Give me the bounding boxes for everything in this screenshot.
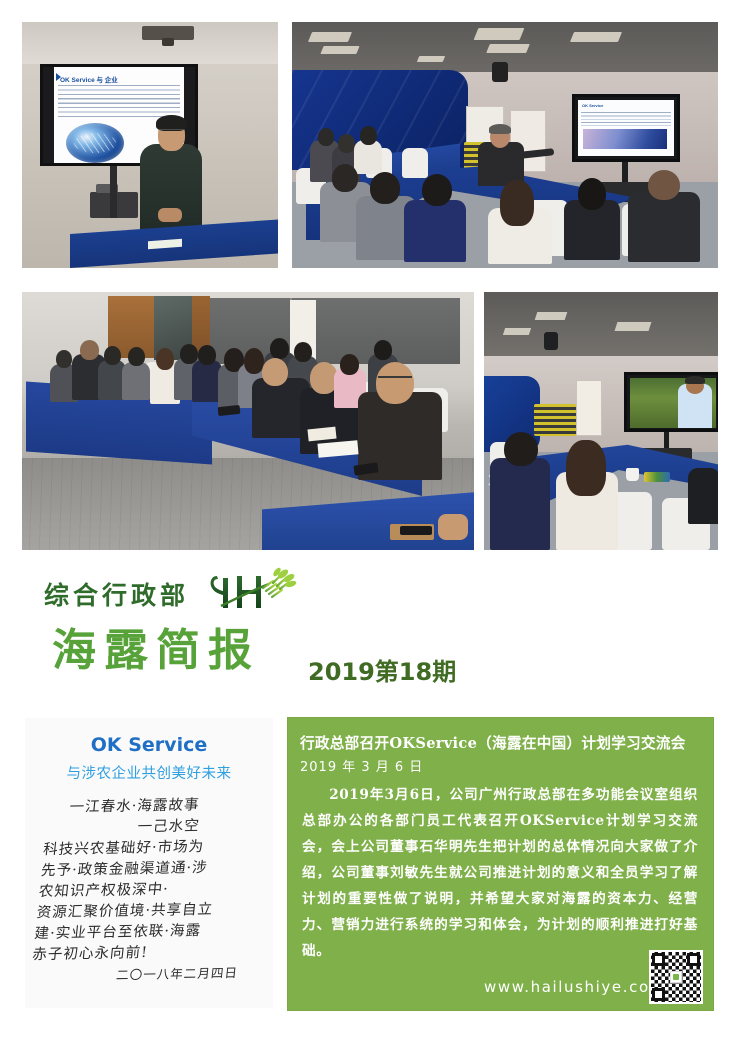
chair bbox=[402, 148, 428, 178]
attendee-head bbox=[198, 345, 216, 365]
attendee-head bbox=[128, 347, 145, 366]
qr-finder-top-right bbox=[687, 953, 700, 966]
attendee-head bbox=[500, 180, 534, 226]
slide-body-text bbox=[581, 112, 671, 126]
room-door bbox=[576, 380, 602, 436]
smartphone bbox=[400, 526, 432, 535]
attendee-body bbox=[354, 140, 382, 174]
attendee-head bbox=[318, 128, 334, 146]
attendee-head bbox=[360, 126, 377, 145]
attendee-head bbox=[648, 170, 680, 200]
attendee-head bbox=[338, 134, 355, 153]
ceiling-light bbox=[308, 32, 352, 42]
speaker-glasses bbox=[159, 129, 184, 135]
article-panel: 行政总部召开OKService（海露在中国）计划学习交流会 2019 年 3 月… bbox=[288, 718, 713, 1010]
handwriting-signature-date: 二〇一八年二月四日 bbox=[29, 962, 254, 987]
attendee-head bbox=[374, 340, 392, 360]
photo-audience-seated bbox=[22, 292, 474, 550]
attendee-body bbox=[688, 468, 718, 524]
presenter-hair bbox=[489, 124, 511, 134]
screen-stand bbox=[110, 166, 117, 218]
handwritten-note: 一江春水·海露故事 一己水空 科技兴农基础好·市场为 先予·政策金融渠道通·涉 … bbox=[29, 794, 271, 987]
photo-wide-meeting-room: OK Service bbox=[292, 22, 718, 268]
projector-icon bbox=[142, 26, 194, 40]
ceiling-light bbox=[320, 46, 359, 54]
ok-service-panel: OK Service 与涉农企业共创美好未来 一江春水·海露故事 一己水空 科技… bbox=[25, 718, 273, 1008]
video-person-hair bbox=[685, 376, 705, 384]
ceiling-light bbox=[486, 44, 530, 53]
department-name: 综合行政部 bbox=[44, 576, 189, 612]
attendee-body bbox=[490, 458, 550, 550]
speaker-hands bbox=[158, 208, 182, 222]
publication-title: 海露简报 bbox=[52, 614, 260, 678]
ceiling-light bbox=[417, 56, 445, 62]
attendee-glasses bbox=[378, 376, 412, 384]
attendee-head bbox=[422, 174, 452, 206]
presentation-slide: OK Service bbox=[578, 100, 674, 156]
attendee-head bbox=[504, 432, 538, 466]
website-url[interactable]: www.hailushiye.com bbox=[484, 978, 666, 996]
projector-icon bbox=[492, 62, 508, 82]
ok-service-heading: OK Service bbox=[25, 734, 273, 756]
qr-finder-top-left bbox=[652, 953, 665, 966]
attendee-head bbox=[370, 172, 400, 204]
slide-body-text bbox=[58, 85, 180, 119]
projector-icon bbox=[544, 332, 558, 350]
globe-graphic bbox=[66, 123, 124, 163]
coffee-cup bbox=[626, 468, 639, 481]
ok-service-subheading: 与涉农企业共创美好未来 bbox=[25, 762, 273, 783]
attendee-head bbox=[332, 164, 358, 192]
slide-title: OK Service 与 企业 bbox=[60, 74, 118, 84]
ceiling-light bbox=[570, 32, 622, 42]
masthead: 综合行政部 海露简报 2019第18期 bbox=[0, 556, 740, 704]
lh-logo-icon bbox=[203, 564, 299, 616]
attendee-head bbox=[56, 350, 72, 368]
attendee-head bbox=[566, 440, 606, 496]
attendee-head bbox=[104, 346, 121, 365]
magazine bbox=[644, 472, 670, 482]
attendee-body bbox=[122, 362, 150, 400]
logo-stem bbox=[221, 584, 269, 606]
article-headline: 行政总部召开OKService（海露在中国）计划学习交流会 bbox=[300, 732, 705, 753]
ceiling-light bbox=[474, 28, 525, 40]
slide-image bbox=[583, 129, 667, 149]
qr-finder-bottom-left bbox=[652, 988, 665, 1001]
attendee-body bbox=[404, 200, 466, 262]
slide-title: OK Service bbox=[582, 103, 603, 108]
attendee-head bbox=[156, 348, 174, 370]
article-date: 2019 年 3 月 6 日 bbox=[300, 756, 423, 775]
attendee-head bbox=[270, 338, 289, 359]
ceiling-light bbox=[535, 312, 568, 320]
photo-speaker-presentation: OK Service 与 企业 bbox=[22, 22, 278, 268]
attendee-body bbox=[628, 192, 700, 262]
attendee-head bbox=[294, 342, 312, 362]
attendee-head bbox=[340, 354, 359, 375]
attendee-head bbox=[244, 348, 264, 374]
attendee-head bbox=[262, 358, 288, 386]
attendee-head bbox=[578, 178, 606, 210]
article-body: 2019年3月6日，公司广州行政总部在多功能会议室组织总部办公的各部门员工代表召… bbox=[302, 782, 698, 964]
attendee-head bbox=[80, 340, 99, 360]
ceiling-light bbox=[503, 328, 531, 335]
stacked-chairs bbox=[534, 404, 576, 436]
attendee-hand bbox=[438, 514, 468, 540]
photo-video-screening: 业 bbox=[484, 292, 718, 550]
ceiling-light bbox=[615, 322, 652, 331]
issue-number: 2019第18期 bbox=[308, 652, 456, 687]
qr-code-icon[interactable] bbox=[649, 950, 703, 1004]
qr-center-logo bbox=[670, 971, 682, 983]
video-content bbox=[630, 378, 716, 428]
